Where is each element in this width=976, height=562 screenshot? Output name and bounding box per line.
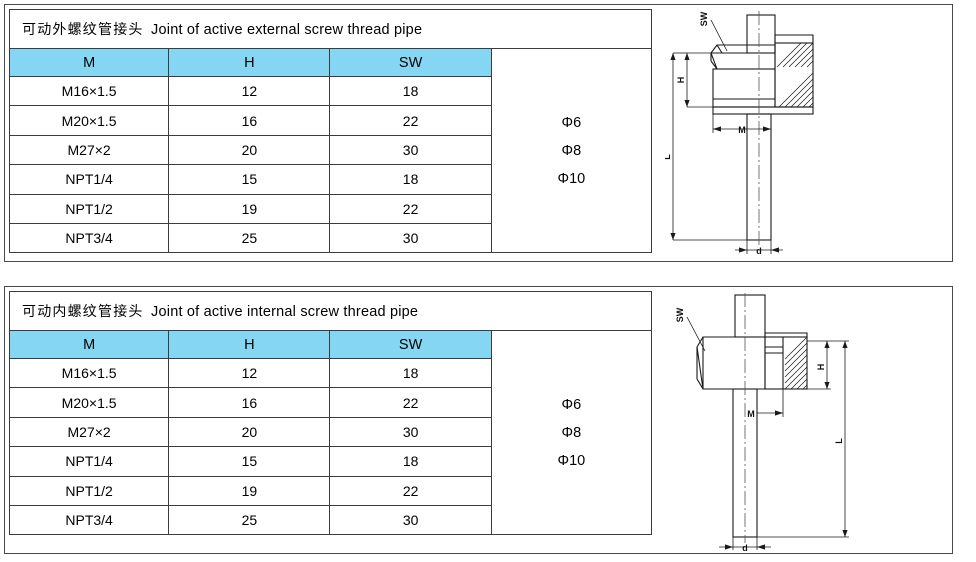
- cell-h: 19: [169, 194, 330, 223]
- diameter-list: Φ6 Φ8 Φ10: [492, 109, 651, 193]
- cell-m: M27×2: [10, 417, 169, 446]
- diameter-list: Φ6 Φ8 Φ10: [492, 391, 651, 475]
- cell-sw: 30: [330, 505, 491, 534]
- dimension-label-m: M: [747, 409, 755, 419]
- cell-h: 19: [169, 476, 330, 505]
- cell-m: NPT3/4: [10, 223, 169, 252]
- table-title-row: 可动外螺纹管接头 Joint of active external screw …: [10, 10, 652, 49]
- dimension-label-d: d: [756, 246, 762, 256]
- cell-m: NPT1/2: [10, 476, 169, 505]
- spec-table-external: 可动外螺纹管接头 Joint of active external screw …: [9, 9, 652, 253]
- section-external-screw-thread: 可动外螺纹管接头 Joint of active external screw …: [4, 4, 953, 262]
- section-title-en: Joint of active internal screw thread pi…: [144, 304, 419, 320]
- dimension-label-h: H: [816, 364, 826, 371]
- cell-m: NPT3/4: [10, 505, 169, 534]
- external-screw-thread-pipe-joint-drawing: SW H L M d: [665, 7, 945, 259]
- cell-m: NPT1/2: [10, 194, 169, 223]
- dimension-label-l: L: [834, 438, 844, 444]
- column-header-h: H: [169, 331, 330, 359]
- cell-sw: 18: [330, 447, 491, 476]
- table-title-row: 可动内螺纹管接头 Joint of active internal screw …: [10, 292, 652, 331]
- dimension-label-l: L: [665, 154, 672, 160]
- spec-sheet-page: 可动外螺纹管接头 Joint of active external screw …: [0, 0, 976, 562]
- spec-table-internal: 可动内螺纹管接头 Joint of active internal screw …: [9, 291, 652, 535]
- diameter-option-3: Φ10: [492, 447, 651, 475]
- section-title-en: Joint of active external screw thread pi…: [144, 22, 423, 38]
- cell-h: 16: [169, 106, 330, 135]
- cell-h: 20: [169, 417, 330, 446]
- cell-h: 12: [169, 77, 330, 106]
- cell-sw: 22: [330, 388, 491, 417]
- cell-sw: 22: [330, 476, 491, 505]
- diameter-option-3: Φ10: [492, 165, 651, 193]
- column-header-m: M: [10, 49, 169, 77]
- cell-m: M20×1.5: [10, 106, 169, 135]
- cell-m: M16×1.5: [10, 359, 169, 388]
- diameter-option-1: Φ6: [492, 109, 651, 137]
- cell-h: 25: [169, 223, 330, 252]
- section-title: 可动内螺纹管接头 Joint of active internal screw …: [10, 292, 652, 331]
- cell-sw: 18: [330, 165, 491, 194]
- column-header-m: M: [10, 331, 169, 359]
- cell-h: 12: [169, 359, 330, 388]
- dimension-label-d: d: [742, 543, 748, 551]
- cell-sw: 22: [330, 194, 491, 223]
- diameter-option-2: Φ8: [492, 419, 651, 447]
- cell-sw: 18: [330, 359, 491, 388]
- cell-sw: 30: [330, 223, 491, 252]
- cell-m: NPT1/4: [10, 447, 169, 476]
- cell-h: 20: [169, 135, 330, 164]
- cell-h: 15: [169, 165, 330, 194]
- section-title-cn: 可动内螺纹管接头: [22, 304, 144, 320]
- cell-m: M16×1.5: [10, 77, 169, 106]
- cell-h: 25: [169, 505, 330, 534]
- cell-sw: 22: [330, 106, 491, 135]
- dimension-label-sw: SW: [675, 307, 685, 322]
- diameter-cell: Φ6 Φ8 Φ10: [491, 331, 651, 535]
- cell-m: M27×2: [10, 135, 169, 164]
- column-header-sw: SW: [330, 331, 491, 359]
- cell-m: NPT1/4: [10, 165, 169, 194]
- dimension-label-sw: SW: [699, 11, 709, 26]
- section-title: 可动外螺纹管接头 Joint of active external screw …: [10, 10, 652, 49]
- table-header-row: M H SW Φ6 Φ8 Φ10: [10, 49, 652, 77]
- column-header-sw: SW: [330, 49, 491, 77]
- table-header-row: M H SW Φ6 Φ8 Φ10: [10, 331, 652, 359]
- cell-m: M20×1.5: [10, 388, 169, 417]
- dimension-label-m: M: [738, 125, 746, 135]
- cell-sw: 30: [330, 417, 491, 446]
- cell-sw: 18: [330, 77, 491, 106]
- diameter-option-2: Φ8: [492, 137, 651, 165]
- section-internal-screw-thread: 可动内螺纹管接头 Joint of active internal screw …: [4, 286, 953, 554]
- dimension-label-h: H: [676, 77, 686, 84]
- cell-sw: 30: [330, 135, 491, 164]
- section-title-cn: 可动外螺纹管接头: [22, 22, 144, 38]
- diameter-option-1: Φ6: [492, 391, 651, 419]
- cell-h: 15: [169, 447, 330, 476]
- internal-screw-thread-pipe-joint-drawing: SW H L M d: [655, 289, 945, 551]
- cell-h: 16: [169, 388, 330, 417]
- column-header-h: H: [169, 49, 330, 77]
- diameter-cell: Φ6 Φ8 Φ10: [491, 49, 651, 253]
